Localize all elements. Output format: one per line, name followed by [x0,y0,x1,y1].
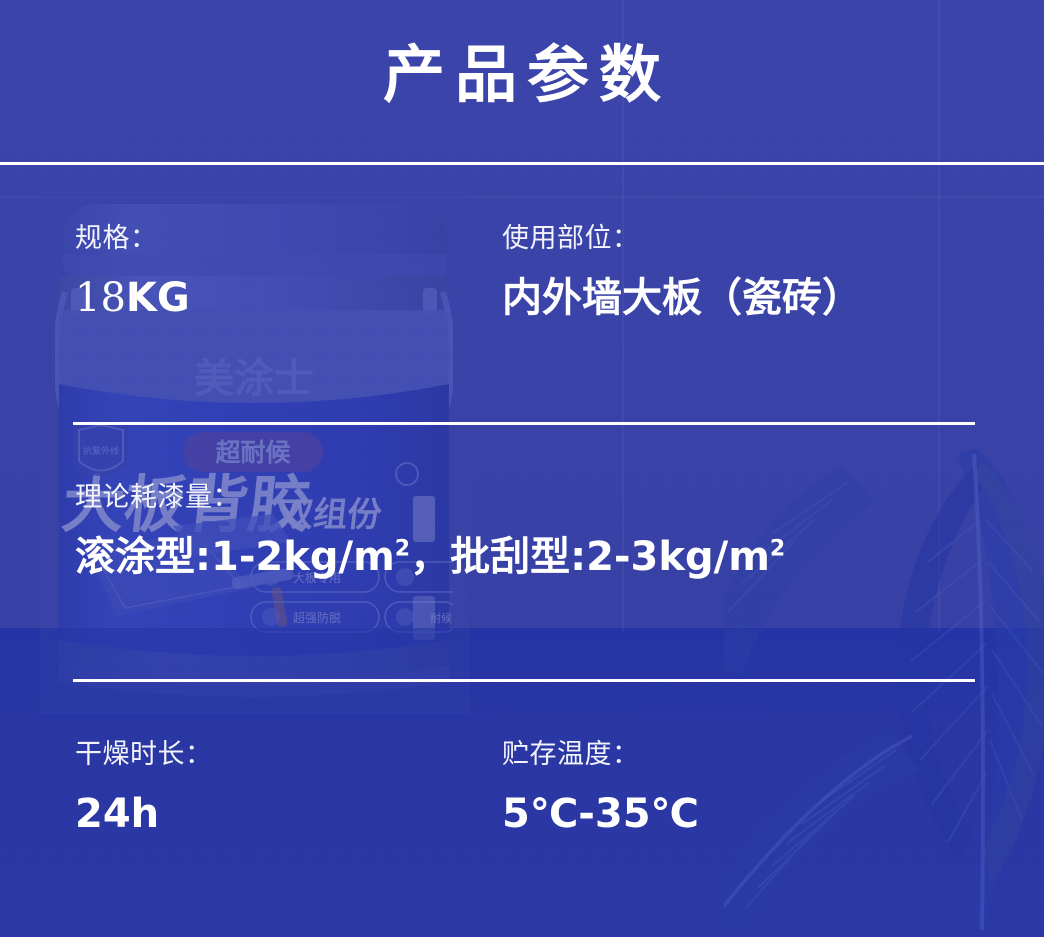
spec-label: 使用部位： [502,225,862,252]
spec-label: 规格： [75,225,190,252]
consumption-part-1: 滚涂型:1-2kg/m [75,534,395,580]
spec-value-storage-temp: 5℃-35℃ [502,794,699,834]
spec-value-drying: 24h [75,794,213,834]
spec-cell-storage-temp: 贮存温度： 5℃-35℃ [502,741,699,834]
spec-cell-consumption: 理论耗漆量： 滚涂型:1-2kg/m2，批刮型:2-3kg/m2 [75,484,785,577]
spec-label: 干燥时长： [75,741,213,768]
consumption-part-2: ，批刮型:2-3kg/m [410,534,770,580]
row-divider [73,422,975,425]
spec-label: 贮存温度： [502,741,699,768]
consumption-superscript-1: 2 [395,537,410,562]
spec-value-consumption: 滚涂型:1-2kg/m2，批刮型:2-3kg/m2 [75,537,785,577]
spec-label: 理论耗漆量： [75,484,785,511]
spec-row: 理论耗漆量： 滚涂型:1-2kg/m2，批刮型:2-3kg/m2 [0,484,1044,741]
page-title: 产品参数 [0,44,1044,106]
spec-value-usage: 内外墙大板（瓷砖） [502,278,862,318]
spec-row: 干燥时长： 24h 贮存温度： 5℃-35℃ [0,741,1044,937]
spec-cell-drying: 干燥时长： 24h [75,741,213,834]
spec-cell-size: 规格： 18KG [75,225,190,318]
consumption-superscript-2: 2 [770,537,785,562]
spec-row: 规格： 18KG 使用部位： 内外墙大板（瓷砖） [0,225,1044,484]
spec-cell-usage: 使用部位： 内外墙大板（瓷砖） [502,225,862,318]
spec-value-size: 18KG [75,278,190,318]
product-spec-page: 美涂士 超耐候 大板背胶 双组份 抗紫外线 大板专用 [0,0,1044,937]
row-divider [73,679,975,682]
spec-table: 规格： 18KG 使用部位： 内外墙大板（瓷砖） 理论耗漆量： 滚涂型:1-2k… [0,163,1044,937]
size-unit: KG [126,275,190,321]
page-header: 产品参数 [0,0,1044,163]
size-number: 18 [75,275,126,321]
